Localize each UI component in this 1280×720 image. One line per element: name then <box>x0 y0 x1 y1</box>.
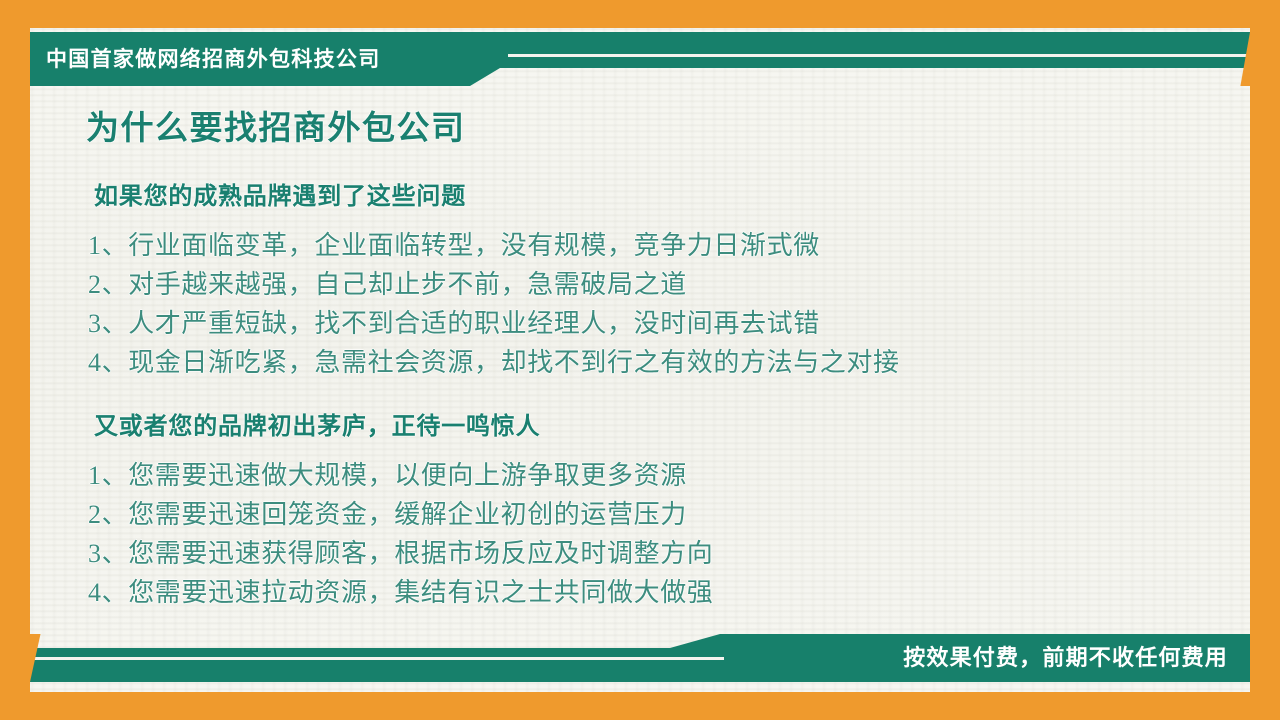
list-item: 2、对手越来越强，自己却止步不前，急需破局之道 <box>88 265 1218 304</box>
list-item: 4、您需要迅速拉动资源，集结有识之士共同做大做强 <box>88 573 1218 612</box>
section-2-list: 1、您需要迅速做大规模，以便向上游争取更多资源 2、您需要迅速回笼资金，缓解企业… <box>78 456 1218 612</box>
list-item: 3、您需要迅速获得顾客，根据市场反应及时调整方向 <box>88 534 1218 573</box>
list-item: 1、您需要迅速做大规模，以便向上游争取更多资源 <box>88 456 1218 495</box>
section-1-subheading: 如果您的成熟品牌遇到了这些问题 <box>94 182 1218 212</box>
slide-canvas: 中国首家做网络招商外包科技公司 为什么要找招商外包公司 如果您的成熟品牌遇到了这… <box>0 0 1280 720</box>
header-tagline: 中国首家做网络招商外包科技公司 <box>46 43 381 73</box>
list-item: 4、现金日渐吃紧，急需社会资源，却找不到行之有效的方法与之对接 <box>88 343 1218 382</box>
list-item: 1、行业面临变革，企业面临转型，没有规模，竞争力日渐式微 <box>88 226 1218 265</box>
footer-accent-line <box>34 657 724 660</box>
list-item: 3、人才严重短缺，找不到合适的职业经理人，没时间再去试错 <box>88 304 1218 343</box>
footer-slogan: 按效果付费，前期不收任何费用 <box>903 640 1228 672</box>
page-title: 为什么要找招商外包公司 <box>86 108 1218 148</box>
slide-content: 为什么要找招商外包公司 如果您的成熟品牌遇到了这些问题 1、行业面临变革，企业面… <box>78 108 1218 612</box>
list-item: 2、您需要迅速回笼资金，缓解企业初创的运营压力 <box>88 495 1218 534</box>
section-divider-space <box>78 382 1218 412</box>
section-1-list: 1、行业面临变革，企业面临转型，没有规模，竞争力日渐式微 2、对手越来越强，自己… <box>78 226 1218 382</box>
section-2-subheading: 又或者您的品牌初出茅庐，正待一鸣惊人 <box>94 412 1218 442</box>
header-accent-line <box>508 54 1250 57</box>
